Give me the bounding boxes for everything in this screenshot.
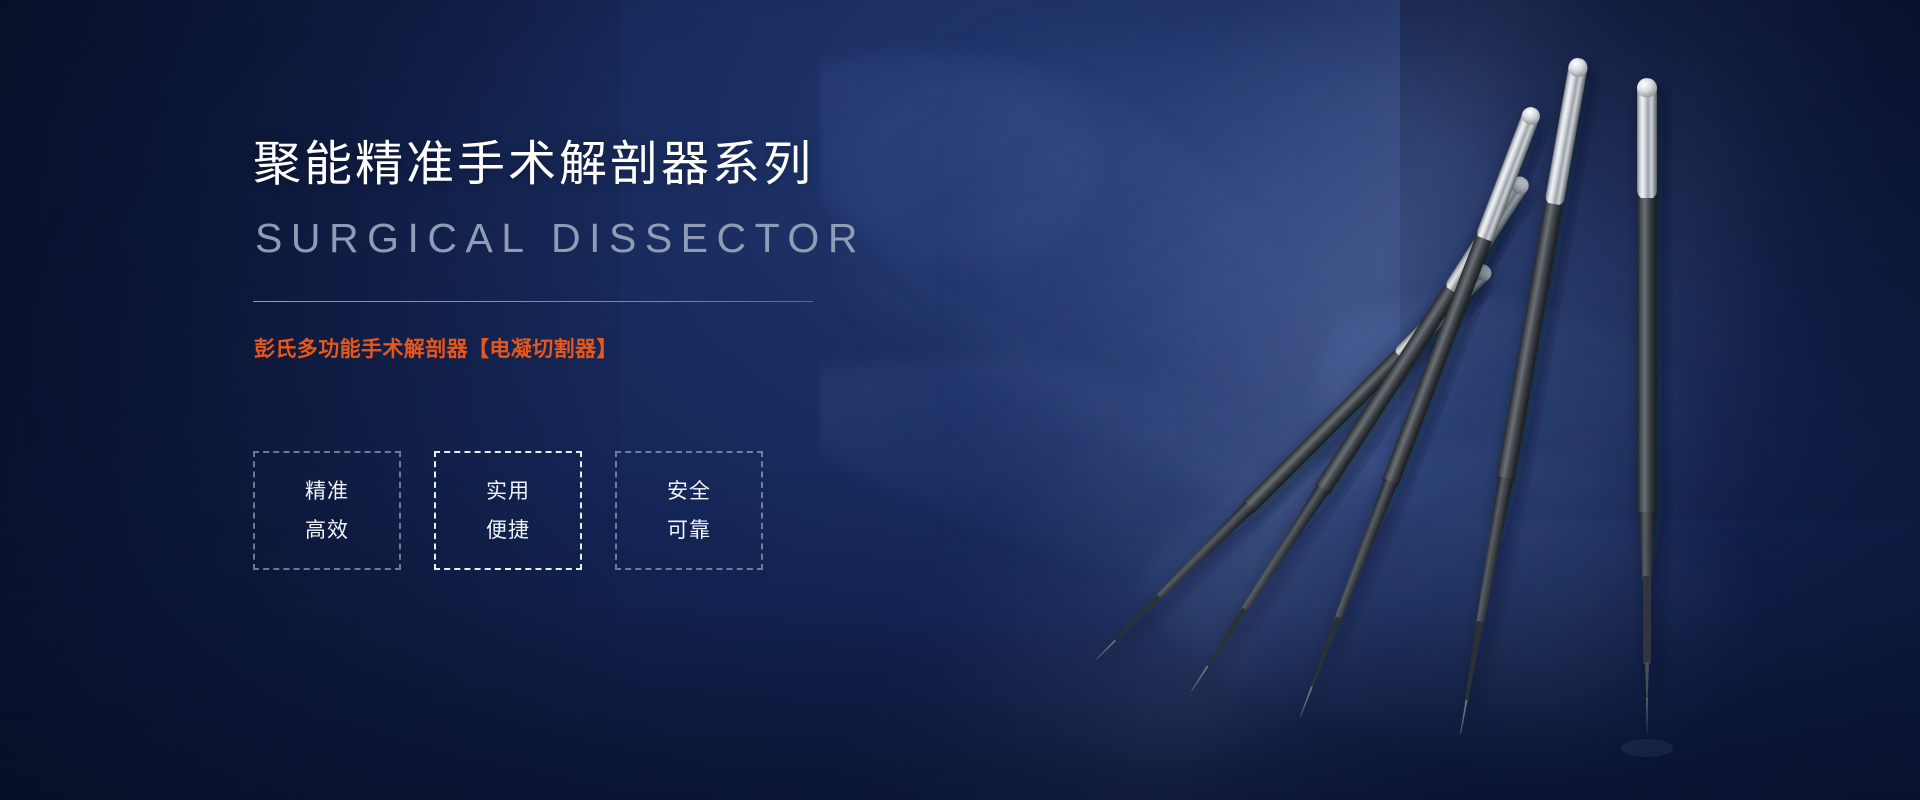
feature-badge-2[interactable]: 实用 便捷: [434, 451, 582, 570]
feature-badge-1-line2: 高效: [305, 520, 349, 541]
hero-banner: 聚能精准手术解剖器系列 SURGICAL DISSECTOR 彭氏多功能手术解剖…: [0, 0, 1920, 800]
page-title: 聚能精准手术解剖器系列: [253, 141, 814, 189]
feature-badge-3[interactable]: 安全 可靠: [615, 451, 763, 570]
feature-badge-3-line1: 安全: [667, 481, 711, 502]
feature-badge-2-line2: 便捷: [486, 520, 530, 541]
feature-badge-1-line1: 精准: [305, 481, 349, 502]
banner-content: 聚能精准手术解剖器系列 SURGICAL DISSECTOR 彭氏多功能手术解剖…: [253, 0, 953, 800]
page-subtitle-english: SURGICAL DISSECTOR: [255, 218, 866, 259]
feature-badge-3-line2: 可靠: [667, 520, 711, 541]
feature-badge-2-line1: 实用: [486, 481, 530, 502]
feature-badge-1[interactable]: 精准 高效: [253, 451, 401, 570]
feature-badge-list: 精准 高效 实用 便捷 安全 可靠: [253, 451, 796, 570]
product-name-highlight: 彭氏多功能手术解剖器【电凝切割器】: [254, 339, 618, 360]
title-divider: [253, 301, 813, 302]
